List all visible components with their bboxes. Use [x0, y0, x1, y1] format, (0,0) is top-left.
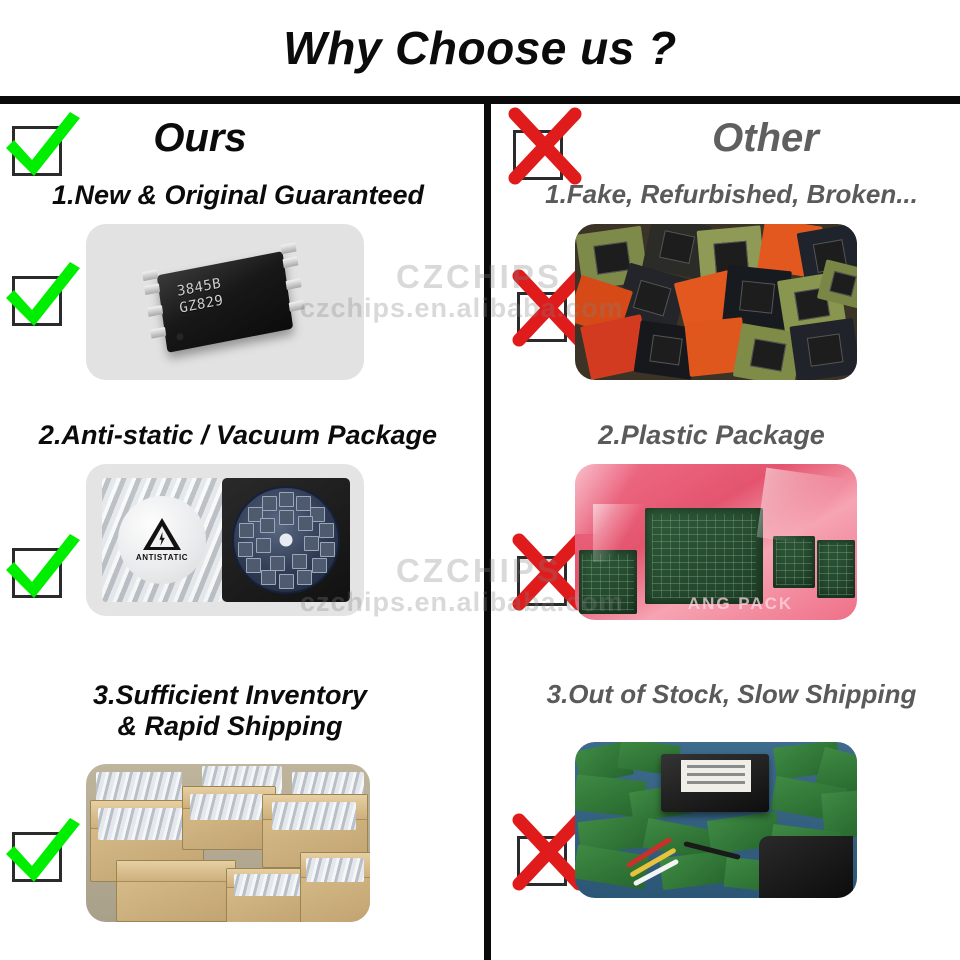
check-mark-icon: [12, 832, 62, 882]
antistatic-label: ANTISTATIC: [136, 553, 188, 562]
column-ours-header: Ours: [0, 112, 484, 174]
other-row-1-image: [575, 224, 857, 380]
horizontal-divider: [0, 96, 960, 104]
other-row-2-image: ANG PACK: [575, 464, 857, 620]
module-label: [681, 760, 751, 792]
title-bar: Why Choose us ?: [0, 0, 960, 96]
ours-row-1-label: 1.New & Original Guaranteed: [0, 180, 480, 211]
column-ours: Ours 1.New & Original Guaranteed 3845B G…: [0, 104, 484, 960]
pack-watermark-text: ANG PACK: [688, 594, 793, 614]
ours-row-2-image: ANTISTATIC: [86, 464, 364, 616]
other-row-2-label: 2.Plastic Package: [477, 420, 946, 451]
other-row-3-image: [575, 742, 857, 898]
ours-row-1-image: 3845B GZ829: [86, 224, 364, 380]
other-row-3-label: 3.Out of Stock, Slow Shipping: [497, 680, 960, 710]
ours-row-3-label: 3.Sufficient Inventory & Rapid Shipping: [0, 680, 472, 742]
column-other-header: Other: [491, 112, 960, 174]
page-title: Why Choose us ?: [283, 21, 676, 75]
cross-mark-icon: [517, 836, 567, 886]
black-module: [661, 754, 769, 812]
ours-row-2-label: 2.Anti-static / Vacuum Package: [0, 420, 480, 451]
antistatic-bag: ANTISTATIC: [102, 478, 222, 602]
column-ours-title: Ours: [0, 116, 442, 161]
column-other: Other 1.Fake, Refurbished, Broken...: [491, 104, 960, 960]
cross-mark-icon: [517, 556, 567, 606]
check-mark-icon: [12, 548, 62, 598]
reel-tray: [222, 478, 350, 602]
ours-row-3-image: [86, 764, 370, 922]
check-mark-icon: [12, 276, 62, 326]
comparison-infographic: Why Choose us ? Ours 1.New & Original Gu…: [0, 0, 960, 960]
cross-mark-icon: [517, 292, 567, 342]
column-other-title: Other: [531, 116, 960, 161]
vertical-divider: [484, 100, 491, 960]
black-case: [759, 836, 853, 898]
other-row-1-label: 1.Fake, Refurbished, Broken...: [497, 180, 960, 210]
